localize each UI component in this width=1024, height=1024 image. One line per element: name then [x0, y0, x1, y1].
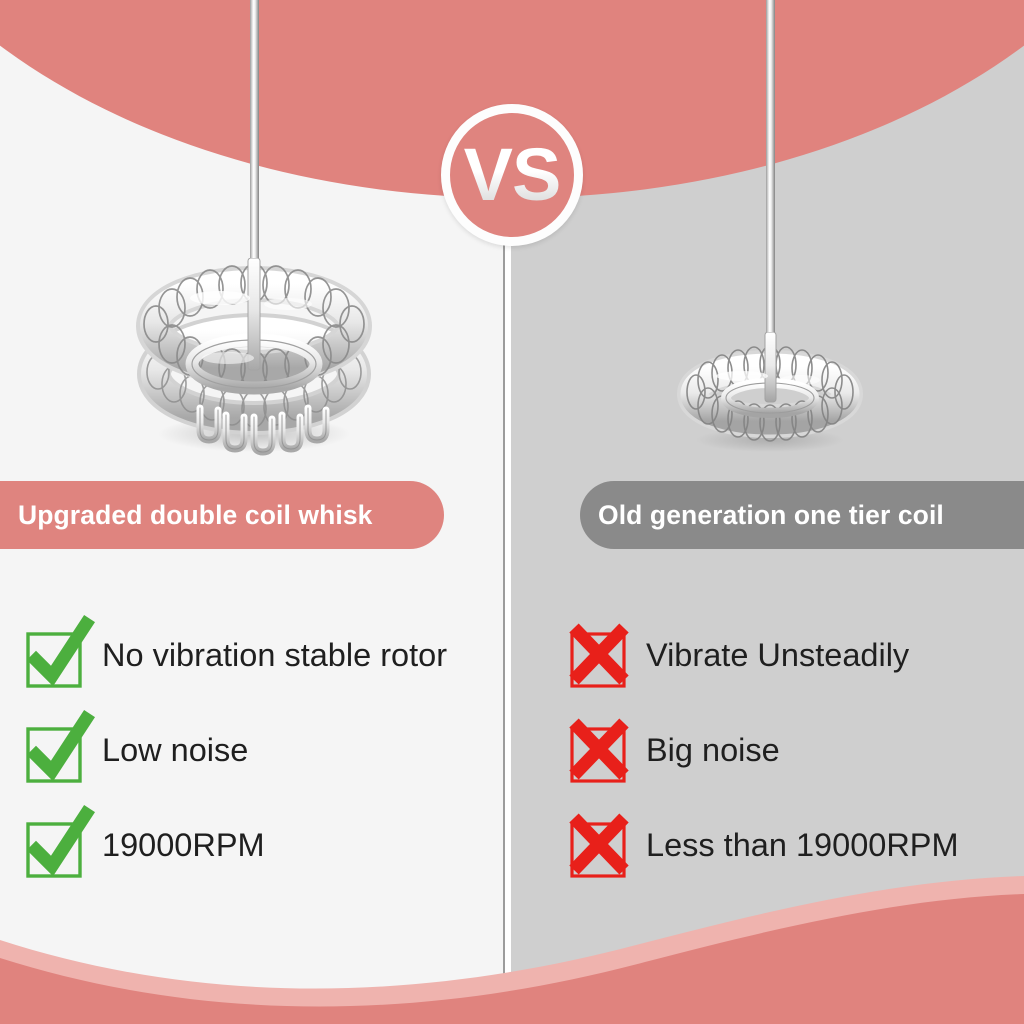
list-item: No vibration stable rotor	[28, 608, 447, 703]
left-banner-label: Upgraded double coil whisk	[18, 500, 373, 531]
list-item: 19000RPM	[28, 798, 447, 893]
feature-label: Less than 19000RPM	[646, 829, 959, 862]
red-cross-box-icon	[572, 630, 624, 682]
green-check-box-icon	[28, 725, 80, 777]
list-item: Less than 19000RPM	[572, 798, 959, 893]
vs-label: VS	[464, 138, 561, 212]
feature-label: Low noise	[102, 734, 248, 767]
red-cross-box-icon	[572, 725, 624, 777]
whisk-shaft-icon	[250, 0, 259, 298]
red-cross-box-icon	[572, 820, 624, 872]
right-product-banner: Old generation one tier coil	[580, 481, 1024, 549]
double-coil-whisk-icon	[128, 258, 380, 458]
feature-label: 19000RPM	[102, 829, 265, 862]
comparison-infographic: VS Upgraded double coil whisk Old genera…	[0, 0, 1024, 1024]
feature-label: Vibrate Unsteadily	[646, 639, 909, 672]
feature-label: Big noise	[646, 734, 780, 767]
list-item: Vibrate Unsteadily	[572, 608, 959, 703]
whisk-shaft-icon	[766, 0, 775, 350]
vs-circle-badge: VS	[441, 104, 583, 246]
green-check-box-icon	[28, 820, 80, 872]
single-tier-coil-whisk-icon	[672, 332, 868, 456]
right-banner-label: Old generation one tier coil	[598, 500, 944, 531]
list-item: Low noise	[28, 703, 447, 798]
green-check-box-icon	[28, 630, 80, 682]
left-feature-list: No vibration stable rotor Low noise 1900…	[28, 608, 447, 893]
right-feature-list: Vibrate Unsteadily Big noise Less th	[572, 608, 959, 893]
left-product-banner: Upgraded double coil whisk	[0, 481, 444, 549]
feature-label: No vibration stable rotor	[102, 639, 447, 672]
list-item: Big noise	[572, 703, 959, 798]
